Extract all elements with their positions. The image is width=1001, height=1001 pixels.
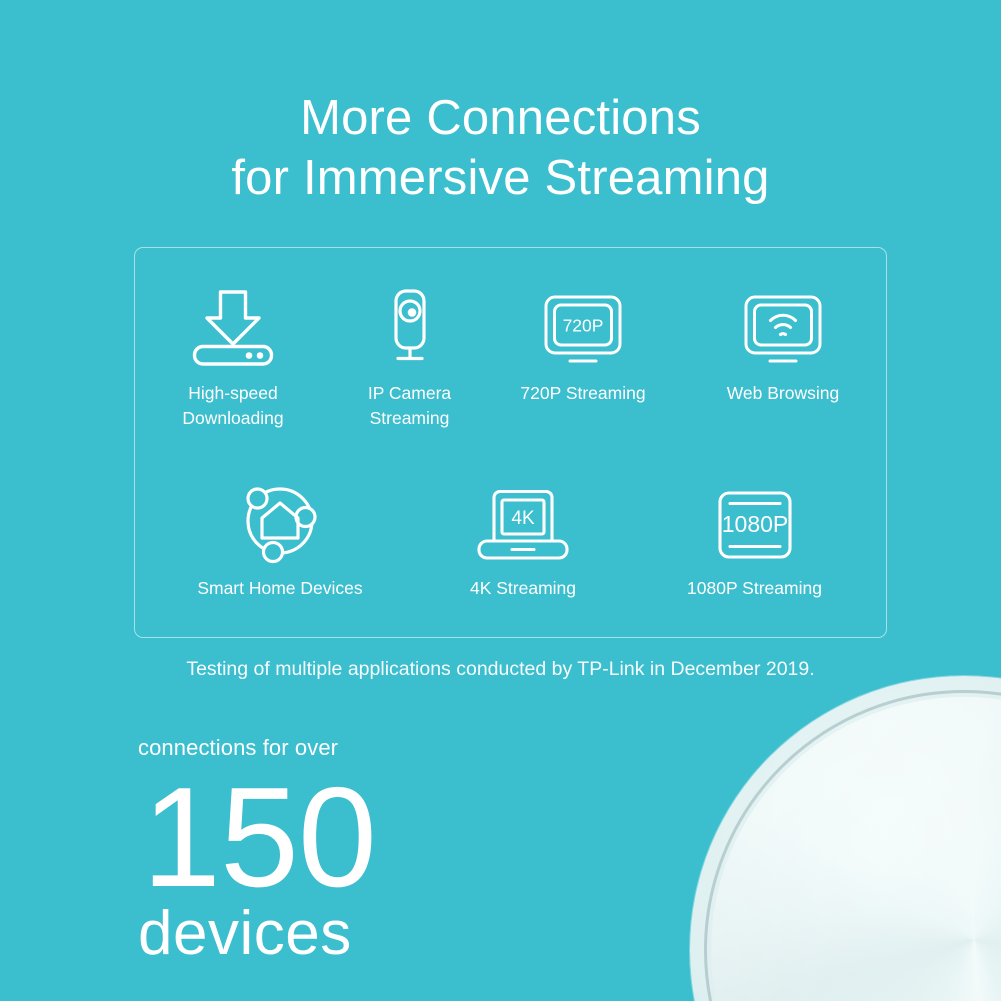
- feature-high-speed-downloading: High-speed Downloading: [135, 286, 331, 431]
- smart-home-network-icon: [238, 481, 322, 561]
- monitor-badge-text: 720P: [563, 316, 604, 336]
- page-title-line-2: for Immersive Streaming: [0, 148, 1001, 208]
- feature-4k-streaming: 4K 4K Streaming: [425, 481, 621, 601]
- ip-camera-icon: [381, 286, 439, 366]
- feature-row-2: Smart Home Devices 4K 4K Streaming: [135, 481, 888, 601]
- feature-label: 4K Streaming: [470, 576, 576, 601]
- testing-disclaimer-note: Testing of multiple applications conduct…: [0, 655, 1001, 683]
- product-sheen-highlight: [711, 697, 1001, 1001]
- feature-web-browsing: Web Browsing: [678, 286, 888, 406]
- product-top-surface: [711, 697, 1001, 1001]
- feature-label: IP Camera Streaming: [368, 381, 451, 431]
- house-outline-icon: [262, 503, 298, 538]
- monitor-720p-icon: 720P: [543, 286, 623, 366]
- wifi-signal-icon: [771, 315, 796, 334]
- laptop-badge-text: 4K: [511, 508, 535, 529]
- product-accent-ring: [704, 690, 1001, 1001]
- feature-row-1: High-speed Downloading IP Camera Streami…: [135, 286, 888, 431]
- feature-panel: High-speed Downloading IP Camera Streami…: [134, 247, 887, 638]
- tablet-badge-text: 1080P: [721, 511, 788, 537]
- feature-ip-camera-streaming: IP Camera Streaming: [331, 286, 488, 431]
- page-title: More Connections for Immersive Streaming: [0, 88, 1001, 208]
- feature-label: High-speed Downloading: [182, 381, 283, 431]
- product-gloss-highlight: [711, 697, 1001, 1001]
- laptop-4k-icon: 4K: [476, 481, 570, 561]
- product-outer-shell: [690, 676, 1001, 1001]
- feature-label: Web Browsing: [727, 381, 840, 406]
- stat-unit-label: devices: [138, 901, 376, 967]
- promo-banner: More Connections for Immersive Streaming…: [0, 0, 1001, 1001]
- feature-label: Smart Home Devices: [197, 576, 362, 601]
- monitor-wifi-icon: [743, 286, 823, 366]
- feature-1080p-streaming: 1080P 1080P Streaming: [621, 481, 888, 601]
- feature-label: 720P Streaming: [520, 381, 645, 406]
- tablet-1080p-icon: 1080P: [713, 481, 797, 561]
- feature-label: 1080P Streaming: [687, 576, 822, 601]
- download-device-icon: [190, 286, 276, 366]
- feature-smart-home-devices: Smart Home Devices: [135, 481, 425, 601]
- feature-720p-streaming: 720P 720P Streaming: [488, 286, 678, 406]
- page-title-line-1: More Connections: [0, 88, 1001, 148]
- stat-number-value: 150: [142, 779, 376, 897]
- product-image-router: [690, 676, 1001, 1001]
- device-count-stat: connections for over 150 devices: [138, 733, 376, 967]
